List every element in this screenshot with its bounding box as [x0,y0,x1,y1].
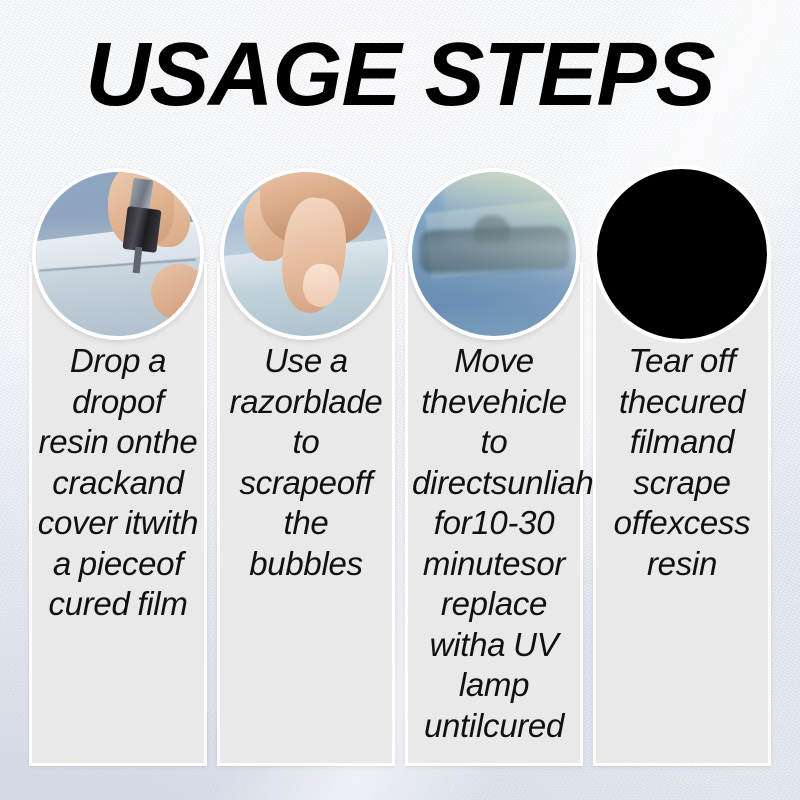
step-card-1: Drop a dropof resin onthe crackand cover… [29,262,207,766]
step-caption-3: Move thevehicle to directsunliaht for10-… [412,341,576,746]
step-caption-1: Drop a dropof resin onthe crackand cover… [36,341,200,625]
step-card-3: Move thevehicle to directsunliaht for10-… [405,262,583,766]
resin-applicator-on-crack-photo [32,168,204,340]
step-caption-4: Tear off thecured filmand scrape offexce… [600,341,764,584]
page-title: USAGE STEPS [0,30,800,120]
step-card-2: Use a razorblade to scrapeoff the bubble… [217,262,395,766]
step-caption-2: Use a razorblade to scrapeoff the bubble… [224,341,388,584]
steps-row: Drop a dropof resin onthe crackand cover… [29,262,771,766]
missing-image-black-circle [593,165,771,343]
windshield-in-sunlight-photo [408,168,580,340]
infographic-page: USAGE STEPS Drop a dropof resin onthe cr… [0,0,800,800]
step-card-4: Tear off thecured filmand scrape offexce… [593,262,771,766]
fingers-placing-film-photo [220,168,392,340]
